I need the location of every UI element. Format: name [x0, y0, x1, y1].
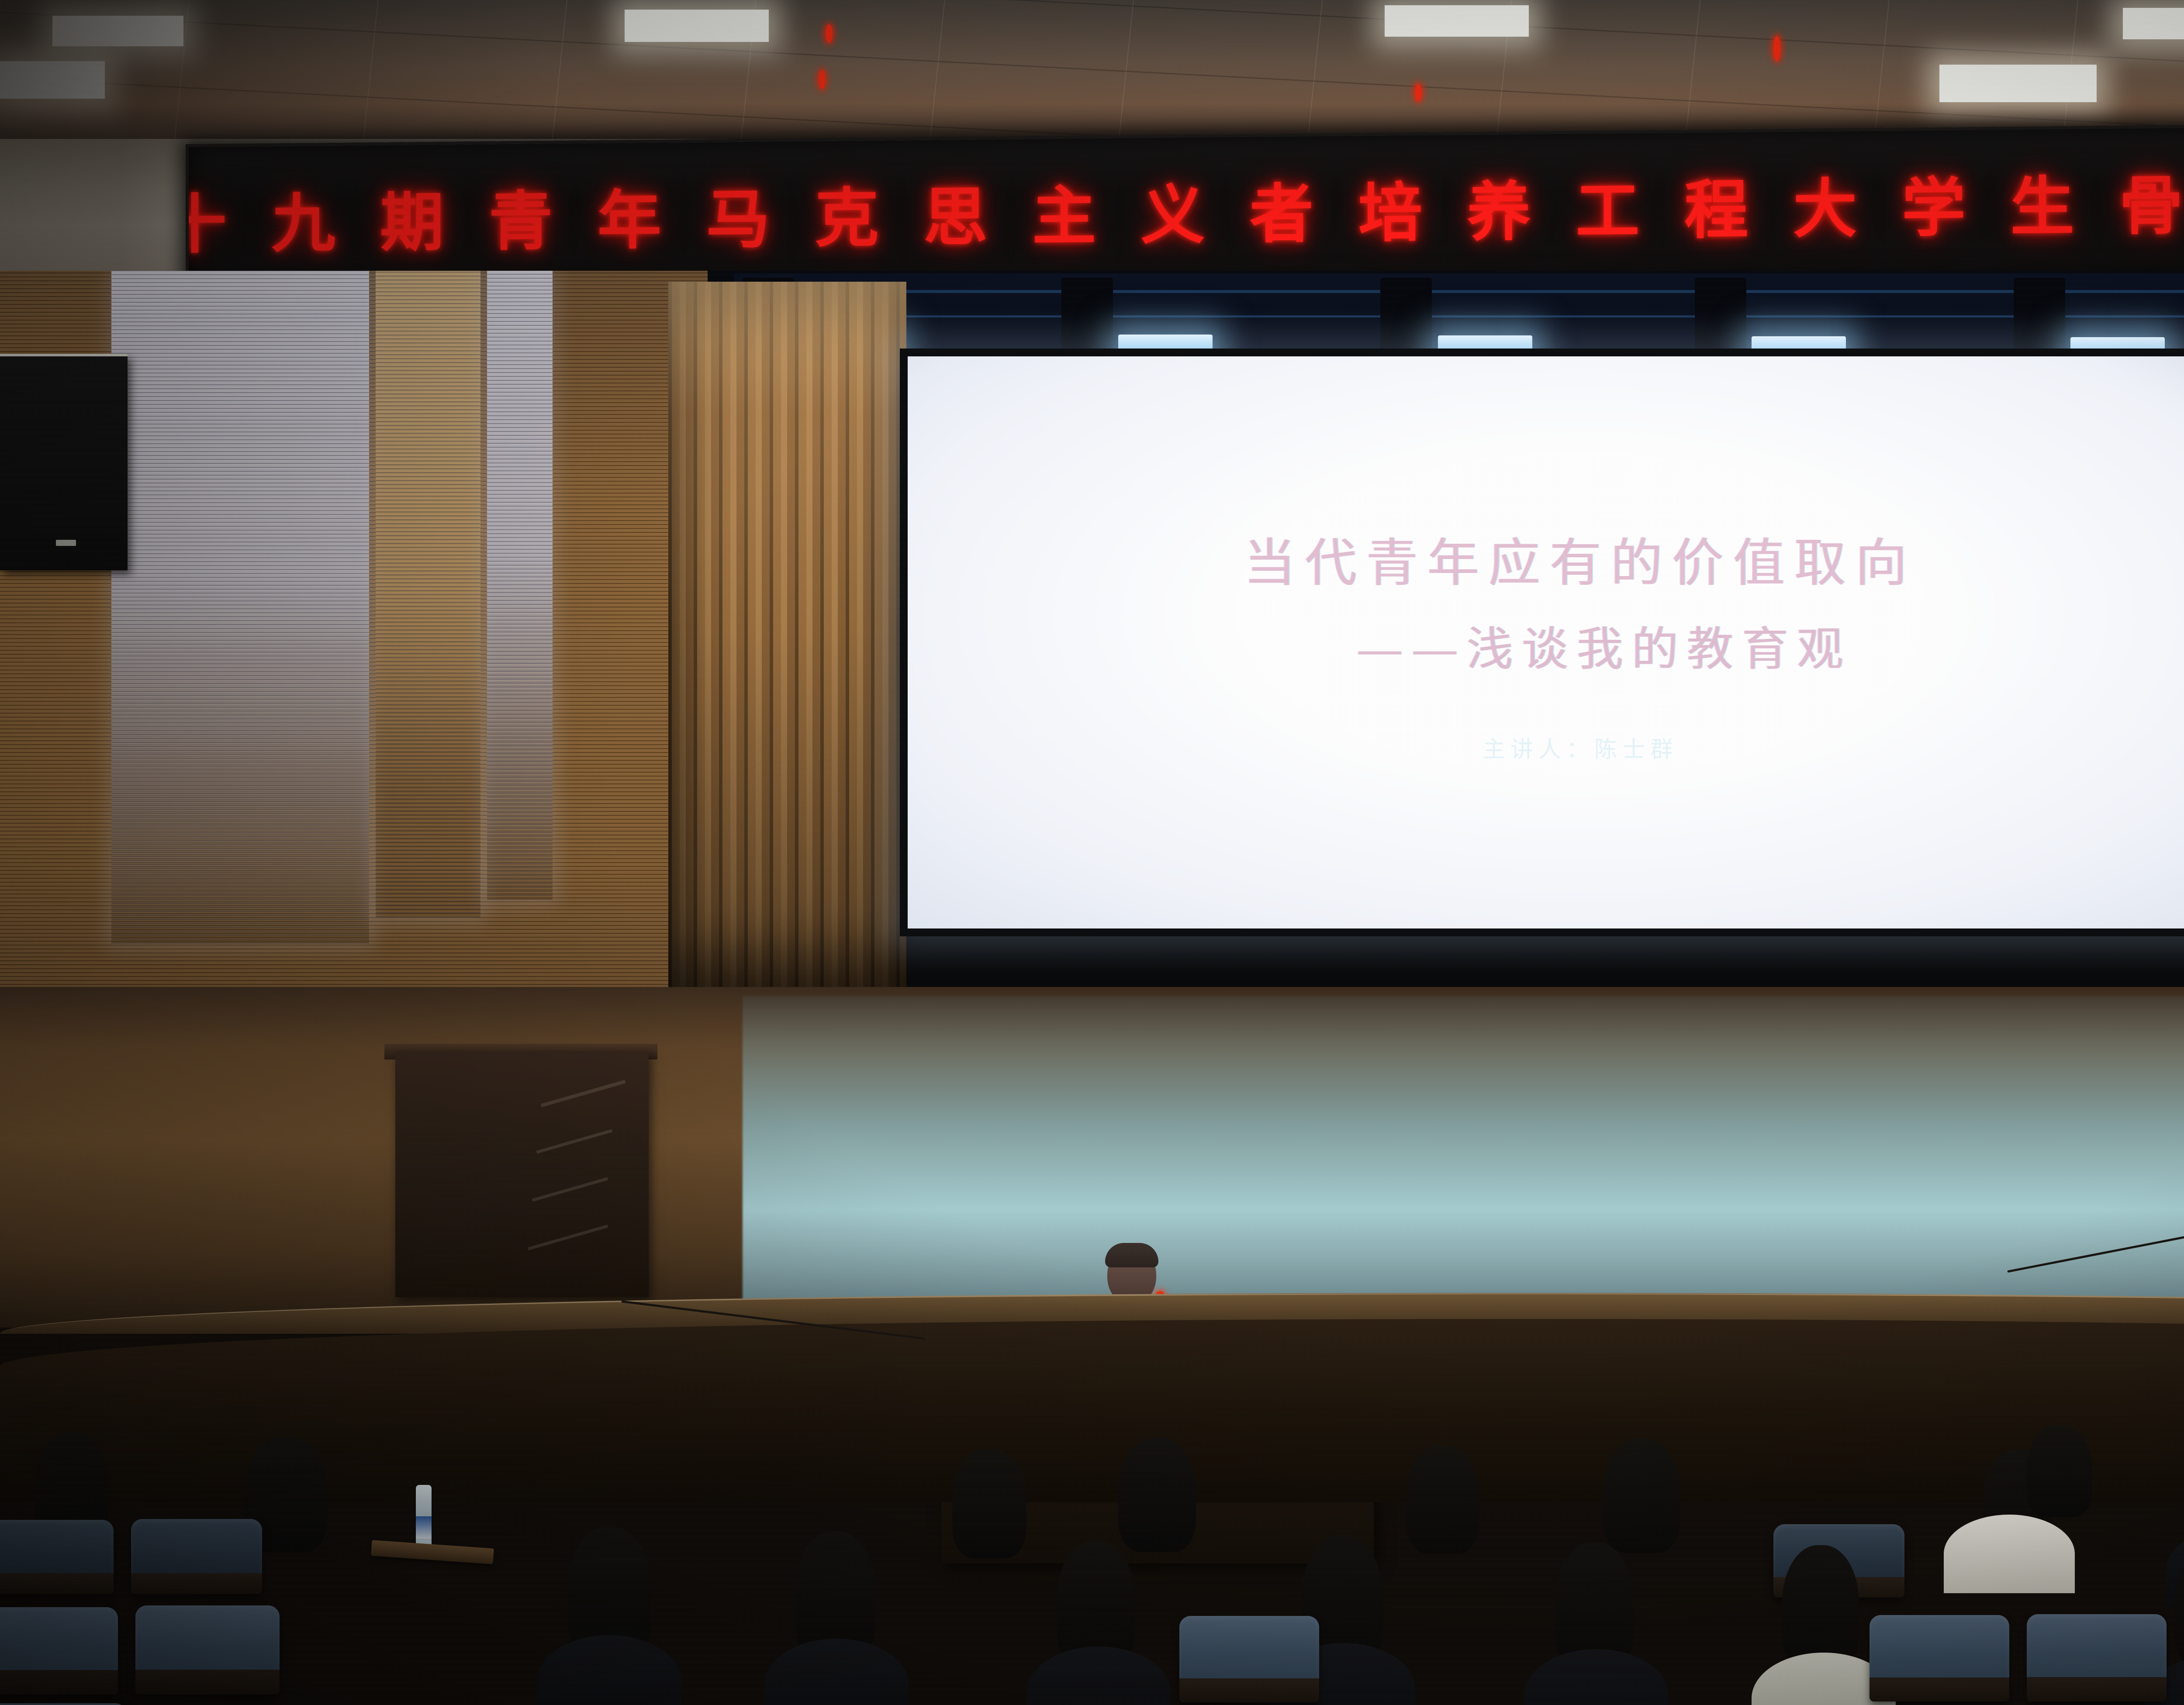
audience-head — [1118, 1438, 1196, 1552]
ceiling-shading — [0, 0, 2184, 144]
truss-bar — [734, 290, 2184, 293]
auditorium-seat[interactable] — [1179, 1616, 1319, 1702]
wall-panel-lit — [487, 271, 553, 900]
slide-subtitle: ——浅谈我的教育观 — [1357, 611, 1852, 679]
podium-panel — [541, 1080, 625, 1108]
audience-shoulder — [1524, 1649, 1669, 1705]
slide-presenter-line: 主讲人：陈士群 — [1482, 731, 1678, 764]
audience-shoulder — [1944, 1515, 2075, 1593]
audience-shoulder — [764, 1639, 909, 1705]
audience-shoulder — [1026, 1646, 1171, 1705]
bottle-label — [416, 1516, 432, 1539]
seat-writing-tablet — [371, 1540, 494, 1564]
water-bottle — [416, 1485, 432, 1550]
ceiling — [0, 0, 2184, 144]
podium-panel — [532, 1177, 608, 1201]
podium-panel — [536, 1129, 613, 1153]
wall-panel-warm — [376, 271, 480, 917]
auditorium-photo: 第 十 九 期 青 年 马 克 思 主 义 者 培 养 工 程 大 学 生 骨 … — [0, 0, 2184, 1705]
auditorium-seat[interactable] — [135, 1605, 280, 1695]
audience-head — [1603, 1439, 1680, 1553]
audience-shoulder — [537, 1635, 681, 1705]
speaker-logo — [56, 540, 76, 546]
audience-seating — [0, 1441, 2184, 1705]
truss-bar — [734, 315, 2184, 318]
auditorium-seat[interactable] — [0, 1607, 118, 1695]
stage-floor-projector-spill — [743, 996, 2184, 1301]
auditorium-seat[interactable] — [1870, 1615, 2009, 1702]
audience-head — [1406, 1446, 1479, 1554]
curtain-sheen — [668, 282, 906, 1007]
slide-title: 当代青年应有的价值取向 — [1244, 521, 1917, 596]
auditorium-seat[interactable] — [2027, 1614, 2167, 1702]
stage-curtain-left — [668, 282, 906, 1007]
podium-panel — [528, 1225, 608, 1250]
speaker-hair — [1105, 1243, 1158, 1267]
auditorium-seat[interactable] — [131, 1519, 262, 1594]
podium — [395, 1053, 649, 1297]
audience-head — [1782, 1545, 1859, 1670]
projection-screen: 当代青年应有的价值取向 ——浅谈我的教育观 主讲人：陈士群 — [908, 356, 2184, 928]
hall-body: 当代青年应有的价值取向 ——浅谈我的教育观 主讲人：陈士群 — [0, 271, 2184, 1705]
auditorium-seat[interactable] — [0, 1520, 114, 1594]
led-banner: 第 十 九 期 青 年 马 克 思 主 义 者 培 养 工 程 大 学 生 骨 … — [186, 118, 2184, 294]
wall-panel-lit — [111, 271, 369, 943]
audience-head — [2027, 1425, 2092, 1517]
projection-screen-frame: 当代青年应有的价值取向 ——浅谈我的教育观 主讲人：陈士群 — [900, 349, 2184, 936]
wall-speaker-left — [0, 354, 128, 570]
audience-head — [952, 1449, 1026, 1558]
auditorium-seat[interactable] — [0, 1703, 127, 1705]
